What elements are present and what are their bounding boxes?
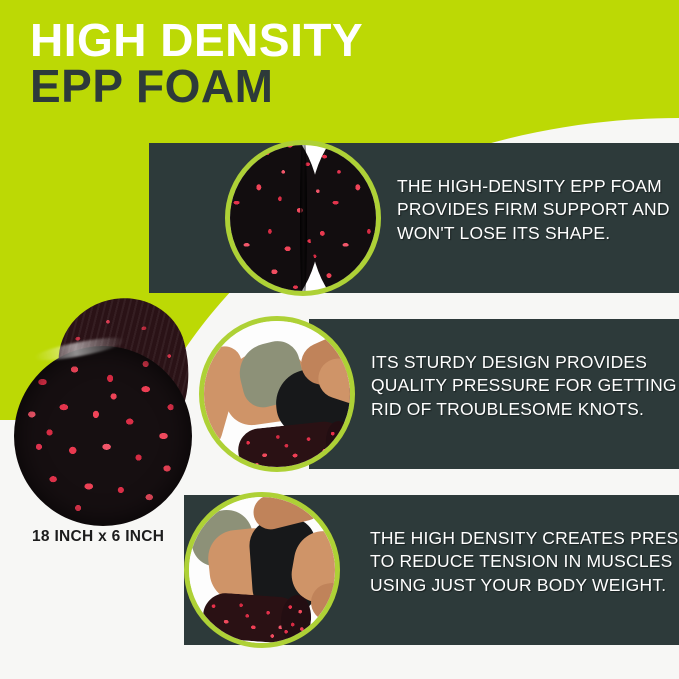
feature-text-line: USING JUST YOUR BODY WEIGHT. (370, 574, 679, 597)
roller-end-right (309, 140, 381, 296)
thumbnail-scene (230, 145, 376, 291)
page-title: HIGH DENSITY EPP FOAM (30, 18, 363, 108)
dimension-label: 18 INCH x 6 INCH (32, 528, 164, 546)
thumbnail-scene (204, 321, 350, 467)
feature-card-sturdy-design: ITS STURDY DESIGN PROVIDES QUALITY PRESS… (309, 319, 679, 469)
feature-text-line: QUALITY PRESSURE FOR GETTING (371, 374, 677, 397)
feature-card-text: THE HIGH-DENSITY EPP FOAM PROVIDES FIRM … (397, 175, 670, 245)
title-line-primary: HIGH DENSITY (30, 18, 363, 62)
title-line-secondary: EPP FOAM (30, 64, 363, 108)
feature-card-text: THE HIGH DENSITY CREATES PRESSURE TO RED… (370, 527, 679, 597)
feature-text-line: THE HIGH DENSITY CREATES PRESSURE (370, 527, 679, 550)
feature-text-line: TO REDUCE TENSION IN MUSCLES (370, 550, 679, 573)
thumbnail-scene (189, 497, 335, 643)
foam-roller-closeup-thumbnail (225, 140, 381, 296)
feature-text-line: THE HIGH-DENSITY EPP FOAM (397, 175, 670, 198)
feature-text-line: ITS STURDY DESIGN PROVIDES (371, 351, 677, 374)
feature-text-line: RID OF TROUBLESOME KNOTS. (371, 398, 677, 421)
roller-seam (300, 140, 307, 296)
roller-end-face (14, 346, 192, 526)
feature-text-line: WON'T LOSE ITS SHAPE. (397, 222, 670, 245)
foam-roller-product-photo (8, 298, 204, 530)
woman-rolling-back-thumbnail (184, 492, 340, 648)
feature-card-text: ITS STURDY DESIGN PROVIDES QUALITY PRESS… (371, 351, 677, 421)
woman-rolling-hip-thumbnail (199, 316, 355, 472)
feature-text-line: PROVIDES FIRM SUPPORT AND (397, 198, 670, 221)
product-infographic: HIGH DENSITY EPP FOAM THE HIGH-DENSITY E… (0, 0, 679, 679)
